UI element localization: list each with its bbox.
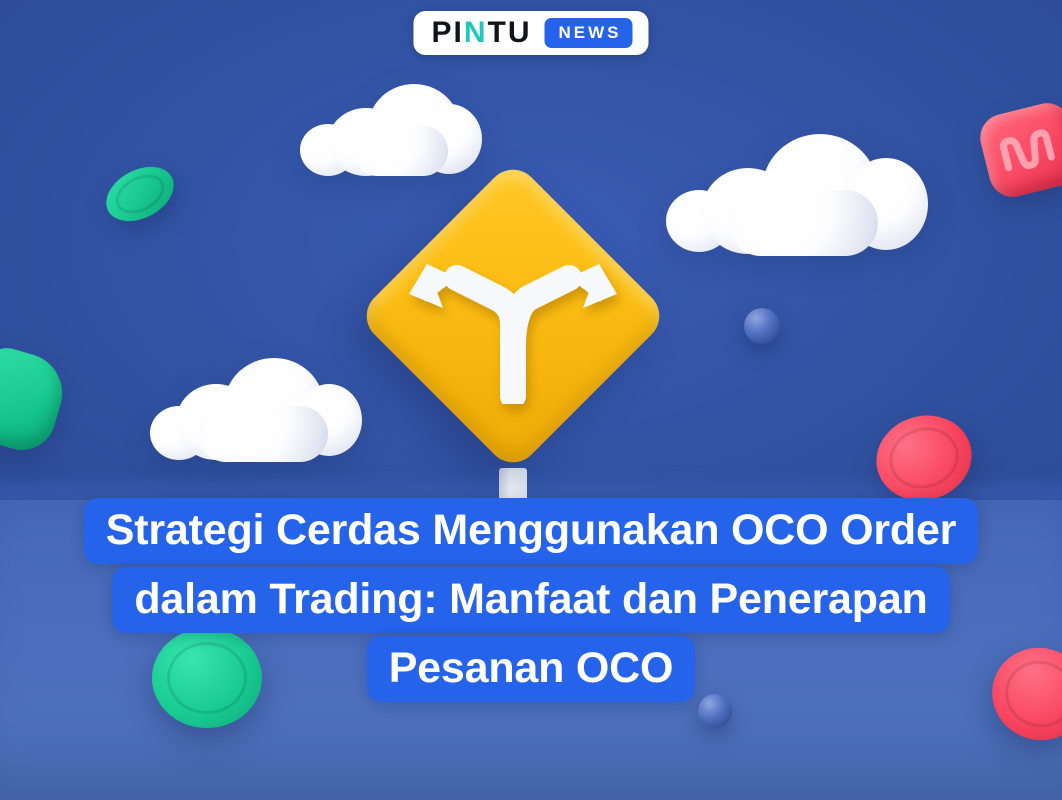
headline-line-1: Strategi Cerdas Menggunakan OCO Order <box>84 498 978 564</box>
red-token-top-right-icon <box>975 98 1062 202</box>
news-thumbnail-canvas: Strategi Cerdas Menggunakan OCO Order da… <box>0 0 1062 800</box>
logo-text-pi: PI <box>431 18 463 48</box>
news-badge: NEWS <box>545 18 633 48</box>
headline-line-2: dalam Trading: Manfaat dan Penerapan <box>112 567 949 633</box>
fork-road-sign <box>348 168 678 528</box>
logo-text-n-accent: N <box>464 18 488 48</box>
blue-sphere-right-icon <box>744 308 780 344</box>
m-glyph-icon <box>995 123 1062 177</box>
fork-arrows-icon <box>405 228 621 404</box>
pintu-wordmark: PINTU <box>431 18 531 48</box>
green-coin-top-left-icon <box>97 156 183 232</box>
logo-text-tu: TU <box>488 18 532 48</box>
article-headline: Strategi Cerdas Menggunakan OCO Order da… <box>0 498 1062 702</box>
cloud-top-left-icon <box>300 82 480 178</box>
cloud-mid-left-icon <box>150 358 362 464</box>
pintu-news-logo[interactable]: PINTU NEWS <box>413 11 648 55</box>
headline-line-3: Pesanan OCO <box>367 636 696 702</box>
green-token-left-edge-icon <box>0 342 72 458</box>
cloud-top-right-icon <box>666 132 928 264</box>
